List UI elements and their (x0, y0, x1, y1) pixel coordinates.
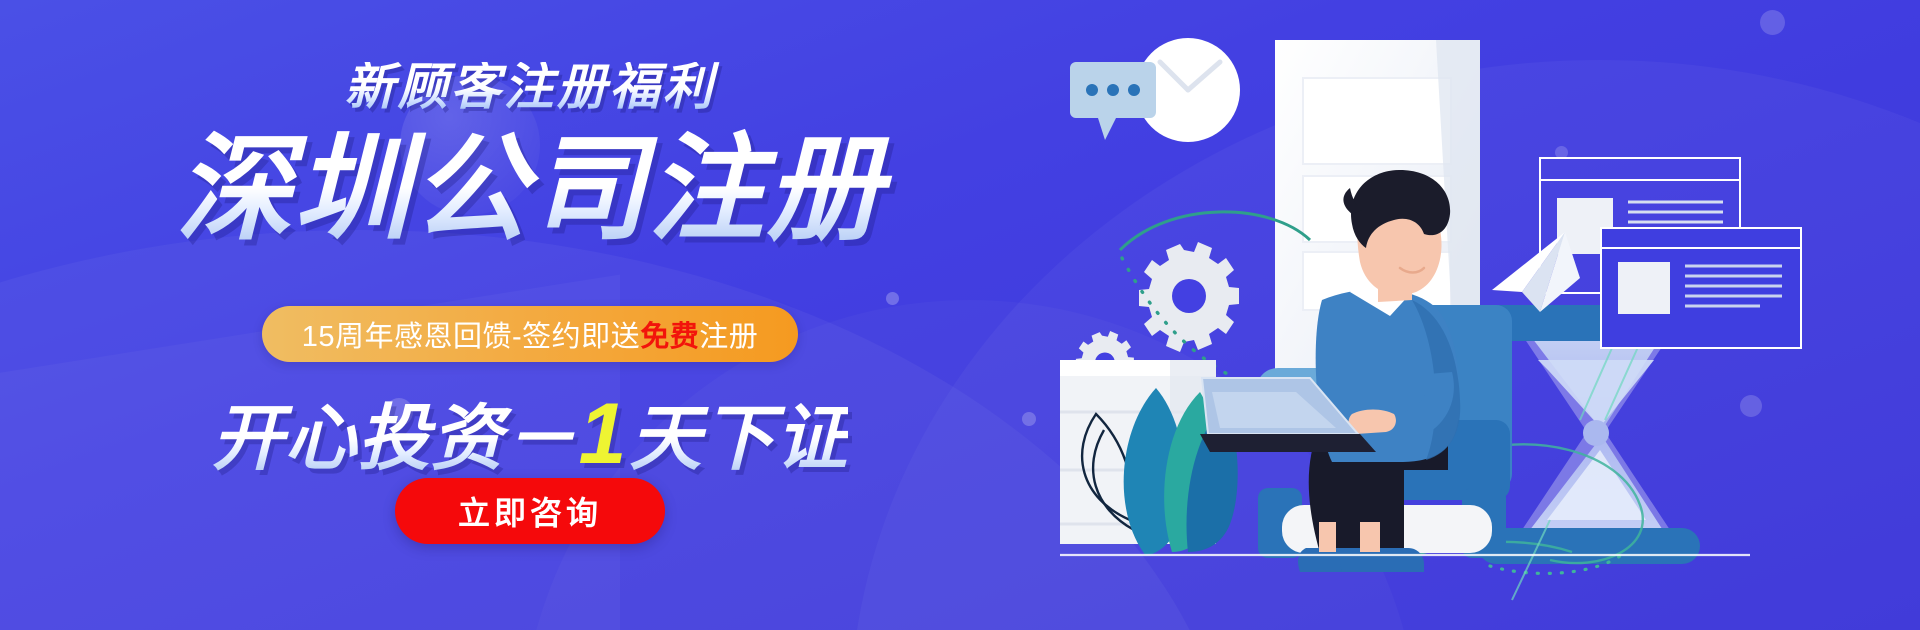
kicker-text: 新顾客注册福利 (0, 62, 1060, 112)
illustration-svg (1060, 0, 1920, 630)
tagline-text: 开心投资－1天下证 (0, 385, 1060, 484)
chat-bubble-icon (1070, 62, 1156, 140)
tagline-after: 天下证 (629, 399, 848, 479)
promo-pill-wrapper: 15周年感恩回馈-签约即送免费注册 (0, 306, 1060, 362)
promo-text-before: 15周年感恩回馈-签约即送 (302, 313, 640, 355)
tagline-number: 1 (577, 386, 630, 482)
headline-text: 深圳公司注册 (0, 125, 1060, 255)
banner-copy: 新顾客注册福利 深圳公司注册 15周年感恩回馈-签约即送免费注册 开心投资－1天… (0, 0, 1060, 630)
illustration (1060, 0, 1920, 630)
document-card (1601, 228, 1801, 348)
cta-wrapper: 立即咨询 (0, 478, 1060, 544)
tagline-before: 开心投资－ (212, 399, 577, 479)
paper-plane-icon (1492, 232, 1580, 312)
promo-pill: 15周年感恩回馈-签约即送免费注册 (262, 306, 798, 362)
consult-now-button[interactable]: 立即咨询 (395, 478, 665, 544)
promo-highlight: 免费 (640, 313, 699, 355)
promo-banner: 新顾客注册福利 深圳公司注册 15周年感恩回馈-签约即送免费注册 开心投资－1天… (0, 0, 1920, 630)
promo-text-after: 注册 (699, 313, 758, 355)
